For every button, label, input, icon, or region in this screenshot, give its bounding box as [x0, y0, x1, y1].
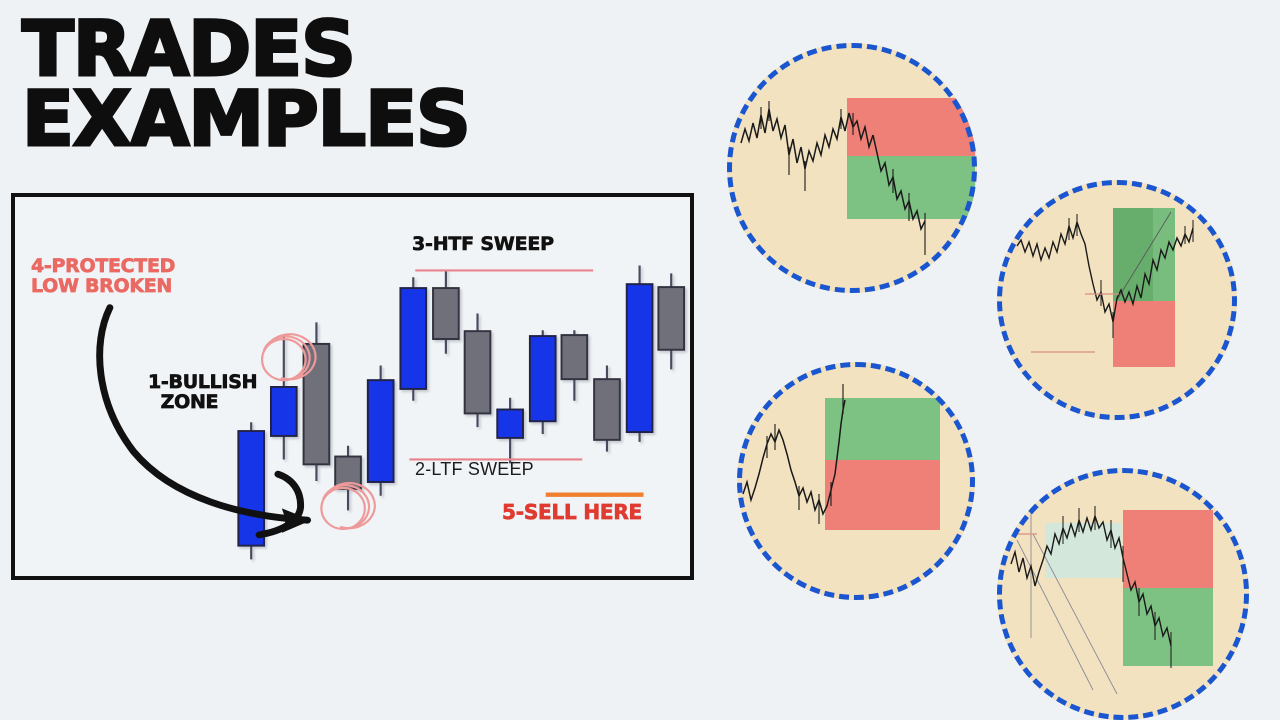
zone-stop-loss: [825, 460, 940, 530]
thumbnail-3-content: [737, 362, 975, 600]
annotation-protected-low-broken: 4-PROTECTED LOW BROKEN: [31, 257, 175, 297]
trade-example-thumbnail-2[interactable]: [997, 180, 1237, 420]
title-line-2: EXAMPLES: [22, 84, 662, 154]
annotation-sell-here: 5-SELL HERE: [502, 502, 642, 523]
page-title: TRADES EXAMPLES: [22, 14, 662, 154]
thumbnail-2-content: [997, 180, 1237, 420]
trade-example-thumbnail-3[interactable]: [737, 362, 975, 600]
annotation-htf-sweep: 3-HTF SWEEP: [412, 235, 554, 255]
trade-example-thumbnail-4[interactable]: [997, 468, 1249, 720]
annotation-ltf-sweep: 2-LTF SWEEP: [415, 460, 534, 479]
zone-stop-loss: [1123, 510, 1213, 588]
trade-example-thumbnail-1[interactable]: [727, 43, 977, 293]
slide-canvas: TRADES EXAMPLES: [0, 0, 1280, 720]
zone-stop-loss: [847, 98, 975, 156]
zone-take-profit: [825, 398, 940, 460]
thumbnail-1-content: [727, 43, 977, 293]
main-chart-panel: 4-PROTECTED LOW BROKEN 1-BULLISH ZONE 3-…: [11, 193, 694, 580]
annotation-bullish-zone: 1-BULLISH ZONE: [148, 373, 257, 413]
thumbnail-4-content: [997, 468, 1249, 720]
zone-take-profit: [1123, 588, 1213, 666]
zone-stop-loss: [1113, 301, 1175, 367]
